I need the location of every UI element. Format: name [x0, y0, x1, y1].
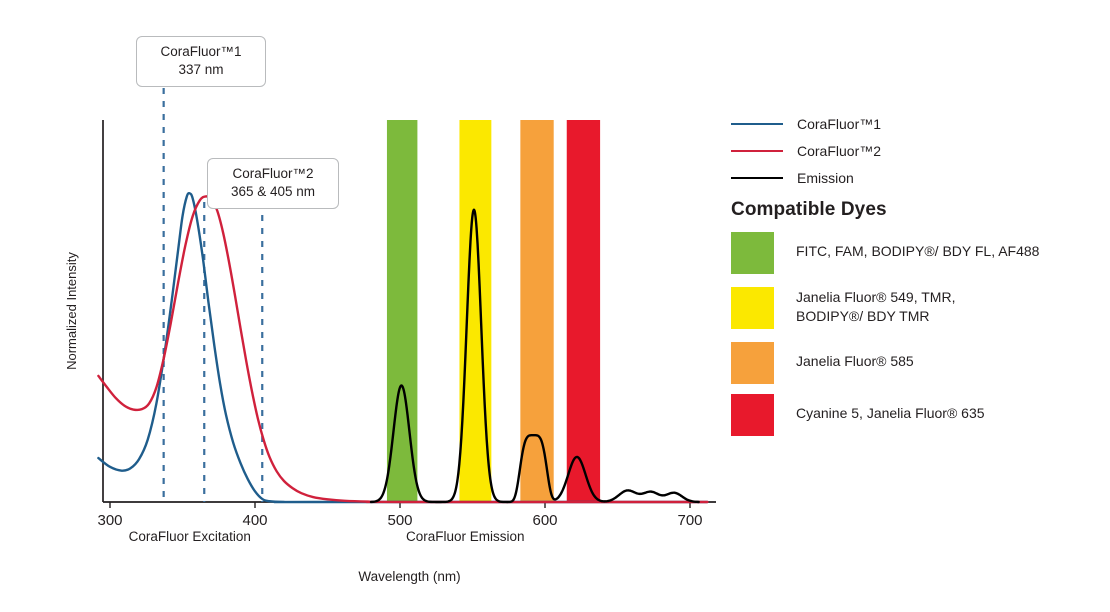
dye-row-orange: Janelia Fluor® 585: [731, 342, 914, 384]
annotation-line1: CoraFluor™1: [160, 44, 241, 59]
compatible-dyes-heading: Compatible Dyes: [731, 199, 887, 221]
legend-swatch-line-corafluor2: [731, 150, 783, 152]
dye-row-green: FITC, FAM, BODIPY®/ BDY FL, AF488: [731, 232, 1039, 274]
legend-item-corafluor2: CoraFluor™2: [731, 137, 1101, 164]
dye-label: Janelia Fluor® 585: [796, 342, 914, 371]
y-axis-label: Normalized Intensity: [64, 252, 79, 370]
x-tick-label-300: 300: [97, 512, 122, 529]
legend-swatch-line-corafluor1: [731, 123, 783, 125]
figure-root: 300400500600700Normalized IntensityWavel…: [0, 0, 1110, 612]
band-red-band: [567, 120, 600, 502]
x-tick-label-600: 600: [532, 512, 557, 529]
region-label-excitation: CoraFluor Excitation: [129, 529, 251, 544]
dye-label: FITC, FAM, BODIPY®/ BDY FL, AF488: [796, 232, 1039, 261]
annotation-box-corafluor2: CoraFluor™2 365 & 405 nm: [207, 158, 339, 209]
legend-label: CoraFluor™1: [797, 116, 881, 132]
dye-swatch-yellow: [731, 287, 774, 329]
annotation-line2: 365 & 405 nm: [218, 183, 328, 201]
dye-row-yellow: Janelia Fluor® 549, TMR, BODIPY®/ BDY TM…: [731, 287, 955, 329]
x-tick-label-400: 400: [242, 512, 267, 529]
series-legend: CoraFluor™1 CoraFluor™2 Emission: [731, 110, 1101, 191]
legend-label: CoraFluor™2: [797, 143, 881, 159]
annotation-box-corafluor1: CoraFluor™1 337 nm: [136, 36, 266, 87]
region-label-emission: CoraFluor Emission: [406, 529, 525, 544]
legend-item-emission: Emission: [731, 164, 1101, 191]
x-axis-label: Wavelength (nm): [358, 569, 460, 584]
dye-swatch-orange: [731, 342, 774, 384]
dye-swatch-green: [731, 232, 774, 274]
x-tick-label-500: 500: [387, 512, 412, 529]
dye-label: Cyanine 5, Janelia Fluor® 635: [796, 394, 985, 423]
x-tick-label-700: 700: [677, 512, 702, 529]
dye-label-line2: BODIPY®/ BDY TMR: [796, 308, 930, 324]
dye-row-red: Cyanine 5, Janelia Fluor® 635: [731, 394, 985, 436]
legend-item-corafluor1: CoraFluor™1: [731, 110, 1101, 137]
dye-label-line1: Janelia Fluor® 549, TMR,: [796, 289, 955, 305]
annotation-line1: CoraFluor™2: [232, 166, 313, 181]
annotation-line2: 337 nm: [147, 61, 255, 79]
dye-swatch-red: [731, 394, 774, 436]
legend-label: Emission: [797, 170, 854, 186]
dye-label-multiline: Janelia Fluor® 549, TMR, BODIPY®/ BDY TM…: [796, 287, 955, 327]
legend-swatch-line-emission: [731, 177, 783, 179]
